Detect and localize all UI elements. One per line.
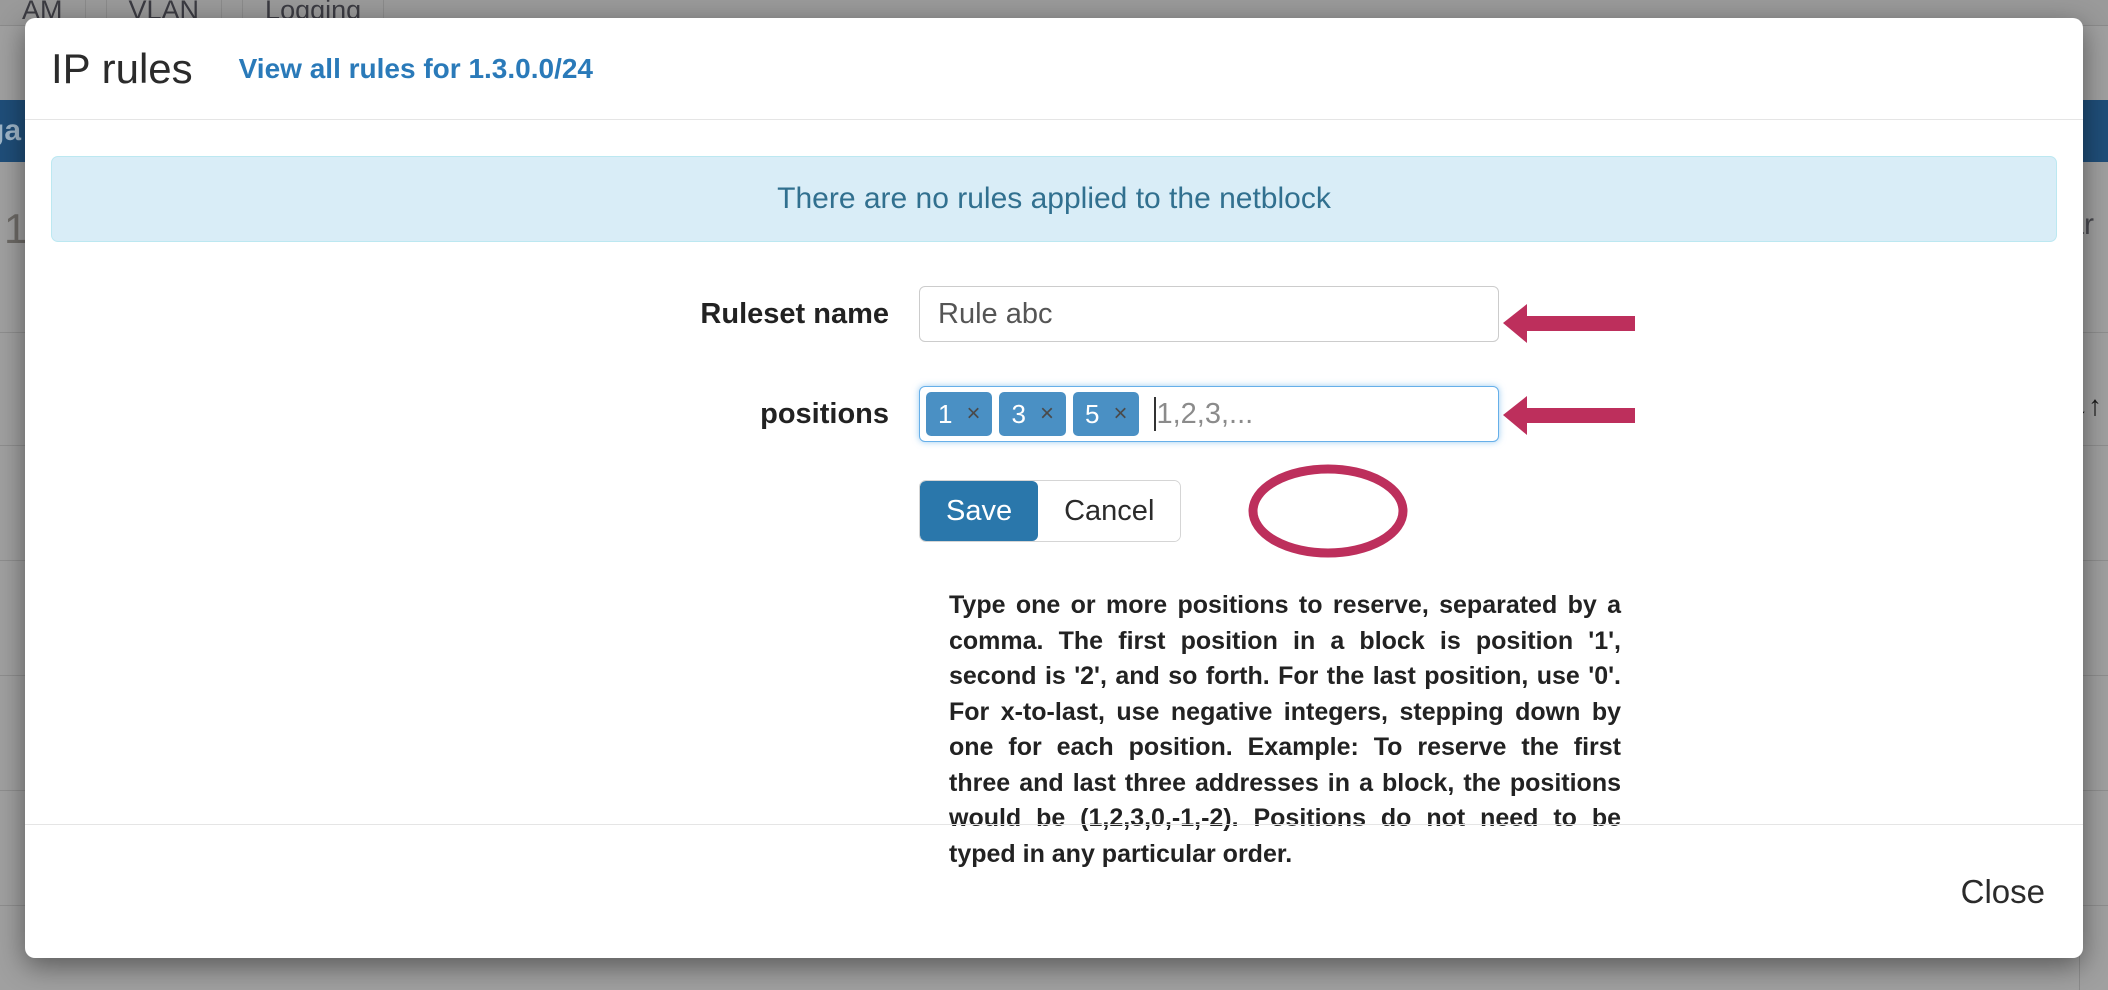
page-title: IP rules [51, 45, 193, 93]
position-tag[interactable]: 5 × [1073, 392, 1139, 436]
cancel-button[interactable]: Cancel [1038, 481, 1180, 541]
ruleset-name-label: Ruleset name [51, 298, 919, 331]
positions-label: positions [51, 398, 919, 431]
position-tag-label: 5 [1085, 399, 1099, 430]
form-actions-spacer [51, 480, 919, 542]
modal-body: There are no rules applied to the netblo… [25, 120, 2083, 823]
ruleset-name-input[interactable] [919, 286, 1499, 342]
positions-text-entry[interactable]: 1,2,3,... [1154, 397, 1253, 431]
save-button[interactable]: Save [920, 481, 1038, 541]
close-icon[interactable]: × [1040, 402, 1054, 426]
no-rules-alert-text: There are no rules applied to the netblo… [777, 182, 1331, 216]
background-row-number: 1 [4, 205, 27, 253]
ruleset-name-row: Ruleset name [51, 286, 2057, 342]
close-icon[interactable]: × [1113, 402, 1127, 426]
modal-header: IP rules View all rules for 1.3.0.0/24 [25, 18, 2083, 120]
background-navbar-label: ga [0, 114, 21, 148]
view-all-rules-link[interactable]: View all rules for 1.3.0.0/24 [239, 53, 593, 85]
save-cancel-group: Save Cancel [919, 480, 1181, 542]
close-button[interactable]: Close [1961, 873, 2045, 911]
position-tag-label: 1 [938, 399, 952, 430]
ip-rules-modal: IP rules View all rules for 1.3.0.0/24 T… [25, 18, 2083, 958]
positions-tag-input[interactable]: 1 × 3 × 5 × 1,2,3,... [919, 386, 1499, 442]
form-actions: Save Cancel [51, 480, 2057, 542]
positions-row: positions 1 × 3 × 5 × 1,2,3,... [51, 386, 2057, 442]
no-rules-alert: There are no rules applied to the netblo… [51, 156, 2057, 242]
position-tag-label: 3 [1011, 399, 1025, 430]
position-tag[interactable]: 1 × [926, 392, 992, 436]
modal-footer: Close [25, 824, 2083, 958]
close-icon[interactable]: × [966, 402, 980, 426]
positions-placeholder: 1,2,3,... [1156, 398, 1253, 431]
position-tag[interactable]: 3 × [999, 392, 1065, 436]
